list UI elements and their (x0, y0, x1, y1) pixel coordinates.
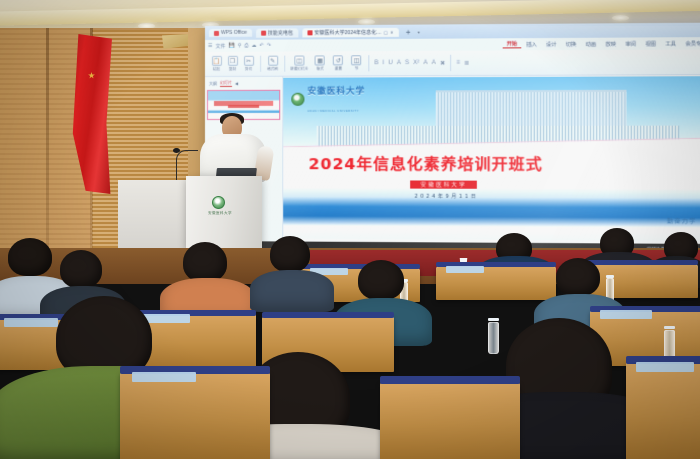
print-icon[interactable]: ⎙ (244, 43, 248, 49)
lecture-hall-photo: WPS Office 技能充电包 安徽医科大学2024年信息化… ◯ ✕ + ▾… (0, 0, 700, 459)
cloud-sync-icon: ◯ (383, 29, 388, 34)
seat-paper (4, 318, 58, 327)
audience-head (270, 236, 310, 272)
wps-tab-bar: WPS Office 技能充电包 安徽医科大学2024年信息化… ◯ ✕ + ▾ (205, 23, 700, 40)
cloud-icon[interactable]: ☁ (251, 43, 256, 49)
tab-label: 安徽医科大学2024年信息化… (314, 28, 381, 35)
toolbar-divider (368, 55, 369, 71)
tab-label: WPS Office (221, 30, 247, 36)
font-color-button[interactable]: A (423, 60, 427, 66)
projection-screen: WPS Office 技能充电包 安徽医科大学2024年信息化… ◯ ✕ + ▾… (205, 23, 700, 257)
podium-label: 安徽医科大学 (199, 211, 241, 216)
ribbon-tab-member[interactable]: 会员专享 (681, 40, 700, 47)
chevron-left-icon[interactable]: ◀ (235, 81, 238, 86)
wps-logo-icon (214, 30, 219, 35)
superscript-button[interactable]: X² (413, 60, 419, 66)
hamburger-icon[interactable]: ☰ (208, 43, 212, 49)
file-menu-button[interactable]: 文件 (215, 42, 225, 49)
paste-icon: 📋 (211, 56, 221, 66)
numbered-list-button[interactable]: ≣ (464, 59, 469, 66)
tab-wps-office[interactable]: WPS Office (209, 29, 252, 37)
reset-icon: ↺ (333, 55, 343, 65)
new-slide-icon: ◫ (294, 56, 304, 66)
seat-front-row (380, 382, 520, 459)
strikethrough-button[interactable]: S (405, 60, 409, 66)
seat-paper (446, 266, 484, 273)
section-icon: ◫ (352, 55, 362, 65)
audience-head (358, 260, 404, 300)
undo-icon[interactable]: ↶ (260, 43, 264, 49)
toolbar-divider (260, 56, 261, 72)
tab-presentation-file[interactable]: 安徽医科大学2024年信息化… ◯ ✕ (302, 27, 398, 37)
slide-organizer: 安徽医科大学 (410, 181, 477, 189)
paste-button[interactable]: 📋 粘贴 (210, 56, 223, 72)
ribbon-tab-design[interactable]: 设计 (542, 40, 561, 47)
ribbon-toolbar: 📋 粘贴 ❐ 复制 ✂ 剪切 ✎ 格式刷 ◫ 新建幻灯片 (205, 49, 700, 77)
slide-university-logo: 安徽医科大学 ANHUI MEDICAL UNIVERSITY (291, 80, 365, 116)
seat-paper (636, 362, 694, 372)
slide-stage: 安徽医科大学 ANHUI MEDICAL UNIVERSITY 2024年信息化… (283, 75, 700, 256)
cut-button[interactable]: ✂ 剪切 (242, 56, 255, 72)
ribbon-tab-review[interactable]: 审阅 (621, 40, 640, 47)
bottle-cap (606, 275, 614, 278)
template-icon (261, 30, 266, 35)
button-label: 新建幻灯片 (290, 67, 308, 72)
search-icon[interactable]: ⚲ (238, 43, 242, 49)
bottle-cap (488, 318, 499, 321)
ppt-file-icon (307, 30, 312, 35)
slide-thumbnail[interactable] (207, 90, 280, 120)
underline-button[interactable]: U (388, 60, 392, 66)
water-bottle (488, 322, 499, 354)
format-painter-button[interactable]: ✎ 格式刷 (266, 56, 279, 72)
audience-head (60, 250, 102, 288)
seat-edge (262, 312, 394, 318)
podium-emblem-icon (212, 196, 225, 209)
button-label: 复制 (229, 67, 236, 72)
ribbon-tab-start[interactable]: 开始 (503, 40, 522, 48)
toolbar-divider (450, 55, 451, 71)
section-button[interactable]: ◫ 节 (350, 55, 363, 71)
audience-head (8, 238, 52, 276)
slide-slogan: 勤奋力学 (667, 216, 697, 225)
tab-template[interactable]: 技能充电包 (256, 28, 298, 37)
save-icon[interactable]: 💾 (228, 43, 234, 49)
audience-head (183, 242, 227, 282)
audience-shoulders (250, 270, 334, 312)
button-label: 格式刷 (267, 67, 278, 72)
seat-front-row (120, 372, 270, 459)
university-emblem-icon (291, 92, 304, 105)
university-name-en: ANHUI MEDICAL UNIVERSITY (307, 110, 359, 113)
ribbon-tab-tools[interactable]: 工具 (661, 40, 680, 47)
seat-paper (600, 310, 652, 319)
close-icon[interactable]: ✕ (390, 29, 393, 34)
new-slide-button[interactable]: ◫ 新建幻灯片 (290, 55, 308, 71)
button-label: 重置 (335, 66, 342, 71)
ribbon-tab-transition[interactable]: 切换 (562, 40, 581, 47)
slide-canvas[interactable]: 安徽医科大学 ANHUI MEDICAL UNIVERSITY 2024年信息化… (283, 76, 700, 241)
copy-icon: ❐ (227, 56, 237, 66)
reset-button[interactable]: ↺ 重置 (332, 55, 345, 71)
wall-seam (46, 28, 49, 278)
text-shadow-button[interactable]: A (397, 60, 401, 66)
seat-edge (380, 376, 520, 384)
button-label: 版式 (316, 66, 323, 71)
cut-icon: ✂ (244, 56, 254, 66)
button-label: 粘贴 (213, 67, 220, 72)
layout-button[interactable]: ▦ 版式 (314, 55, 327, 71)
ribbon-tab-slideshow[interactable]: 放映 (601, 40, 620, 47)
thumbnail-subtitle-bar (228, 105, 259, 108)
highlight-button[interactable]: A (432, 60, 436, 66)
slide-date: 2024年9月11日 (415, 192, 479, 199)
ribbon-tab-insert[interactable]: 插入 (522, 41, 541, 48)
downlight-icon (612, 15, 629, 21)
slide-title: 2024年信息化素养培训开班式 (308, 152, 700, 175)
slide-panel-tabs: 大纲 幻灯片 ◀ (207, 79, 280, 88)
panel-tab-outline[interactable]: 大纲 (209, 80, 217, 86)
bottle-cap (664, 326, 675, 329)
ribbon-tab-view[interactable]: 视图 (641, 40, 660, 47)
seat-front-row (626, 362, 700, 459)
redo-icon[interactable]: ↷ (267, 43, 271, 49)
panel-tab-slides[interactable]: 幻灯片 (220, 80, 232, 87)
new-tab-button[interactable]: + (403, 27, 414, 36)
tab-label: 技能充电包 (268, 29, 293, 36)
italic-button[interactable]: I (383, 60, 385, 66)
chevron-down-icon[interactable]: ▾ (418, 29, 420, 34)
copy-button[interactable]: ❐ 复制 (226, 56, 239, 72)
clear-format-button[interactable]: ✖ (440, 59, 445, 66)
button-label: 节 (355, 66, 359, 71)
audience-head (556, 258, 600, 296)
seat-paper (132, 372, 196, 382)
microphone-icon (173, 148, 180, 153)
bold-button[interactable]: B (374, 60, 378, 66)
format-painter-icon: ✎ (268, 56, 278, 66)
layout-icon: ▦ (315, 55, 325, 65)
bullet-list-button[interactable]: ≡ (456, 60, 460, 66)
university-name-cn: 安徽医科大学 (307, 87, 365, 97)
ribbon-tab-animation[interactable]: 动画 (581, 40, 600, 47)
button-label: 剪切 (245, 67, 252, 72)
toolbar-divider (284, 56, 285, 72)
